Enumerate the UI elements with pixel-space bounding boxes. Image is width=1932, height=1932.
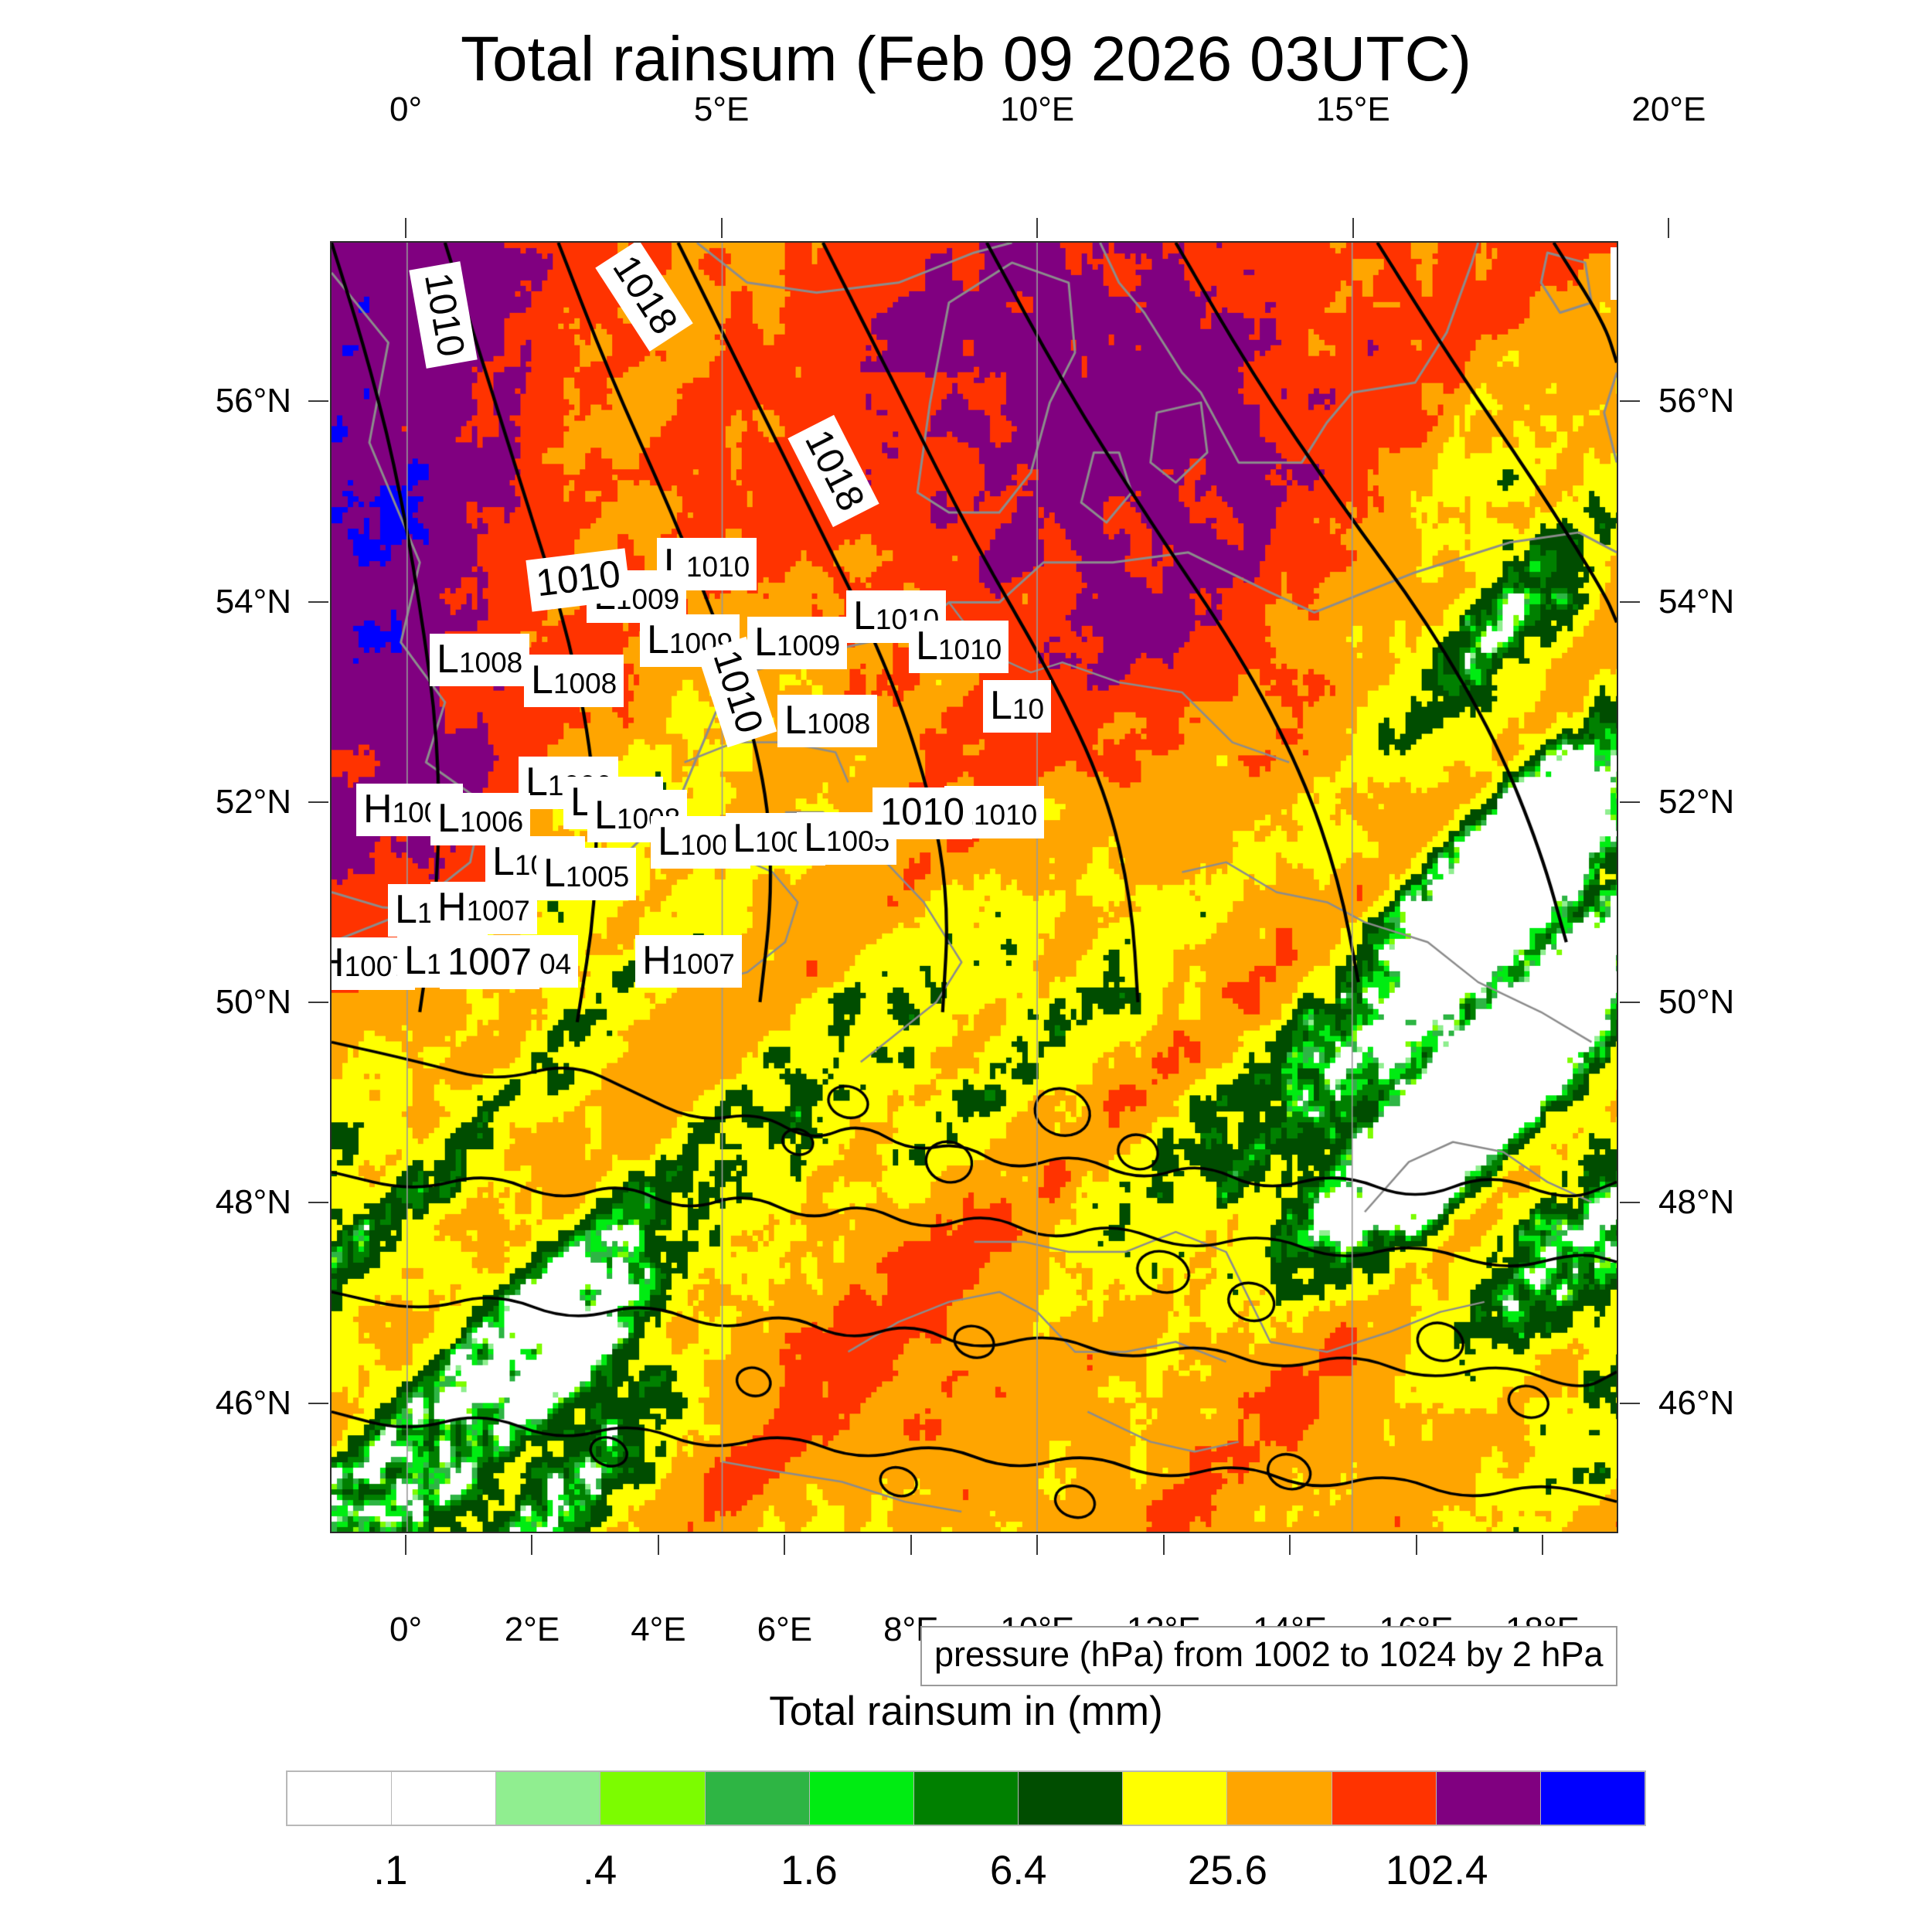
axis-label-bottom-2: 4°E [631,1611,685,1649]
pressure-marker-value: 1008 [553,669,617,698]
colorbar-cell-12[interactable] [1541,1772,1645,1825]
axis-tick-bottom-2 [658,1535,659,1555]
pressure-legend: pressure (hPa) from 1002 to 1024 by 2 hP… [920,1626,1617,1686]
colorbar-cell-8[interactable] [1123,1772,1227,1825]
pressure-marker-type: L [658,821,680,862]
axis-tick-right-4 [1620,1202,1640,1203]
axis-tick-bottom-3 [784,1535,785,1555]
colorbar-tick-1: .4 [583,1847,617,1894]
map-plot-area[interactable]: L1020H1022HL1010L1009L1009L1009L1010L101… [330,241,1618,1533]
colorbar-tick-3: 6.4 [990,1847,1047,1894]
pressure-marker-value: 1009 [777,631,840,660]
pressure-marker-type: L [647,620,669,660]
pressure-marker-value: 1007 [467,896,530,925]
axis-tick-bottom-4 [910,1535,912,1555]
pressure-marker-type: L [733,818,755,859]
axis-label-right-3: 50°N [1658,983,1852,1022]
axis-tick-top-3 [1352,218,1354,238]
axis-tick-top-4 [1668,218,1669,238]
colorbar-cell-4[interactable] [706,1772,810,1825]
axis-label-top-4: 20°E [1631,90,1706,129]
axis-label-top-3: 15°E [1316,90,1390,129]
axis-tick-bottom-5 [1036,1535,1038,1555]
axis-label-top-0: 0° [389,90,422,129]
colorbar-tick-0: .1 [373,1847,407,1894]
axis-label-left-1: 54°N [98,583,291,621]
pressure-marker-l-6: L1009 [747,617,847,669]
pressure-marker-l-10: L1008 [524,655,624,707]
pressure-marker-l-8: L1010 [909,621,1009,673]
axis-tick-right-5 [1620,1403,1640,1404]
pressure-marker-type: L [853,596,876,636]
colorbar-title: Total rainsum in (mm) [0,1688,1932,1735]
pressure-marker-type: L [492,842,515,882]
pressure-marker-type: H [363,789,393,829]
pressure-marker-value: 1005 [566,862,629,891]
axis-tick-left-0 [308,400,328,402]
pressure-marker-value: 1010 [974,801,1037,829]
axis-label-top-1: 5°E [694,90,749,129]
isobar-label-5: 1007 [440,937,539,989]
axis-tick-left-2 [308,801,328,803]
pressure-marker-type: L [916,626,938,666]
axis-tick-left-5 [308,1403,328,1404]
axis-tick-right-1 [1620,601,1640,603]
pressure-marker-type: L [754,622,777,662]
pressure-marker-type: L [437,639,459,679]
axis-label-left-5: 46°N [98,1384,291,1423]
axis-label-left-3: 50°N [98,983,291,1022]
pressure-marker-type: L [594,795,617,835]
axis-label-right-1: 54°N [1658,583,1852,621]
page-title: Total rainsum (Feb 09 2026 03UTC) [0,23,1932,96]
axis-tick-bottom-7 [1289,1535,1291,1555]
colorbar-cell-3[interactable] [600,1772,705,1825]
axis-tick-top-0 [405,218,406,238]
pressure-marker-h-25: H1007 [430,882,537,934]
axis-tick-bottom-0 [405,1535,406,1555]
axis-tick-top-1 [721,218,723,238]
colorbar[interactable] [286,1770,1646,1826]
pressure-marker-h-2: H [1611,247,1618,300]
pressure-marker-type: L [395,889,417,930]
pressure-marker-l-23: L1005 [536,848,636,900]
pressure-marker-type: L [531,660,553,700]
colorbar-cell-1[interactable] [392,1772,496,1825]
colorbar-cell-11[interactable] [1437,1772,1541,1825]
axis-tick-left-1 [308,601,328,603]
axis-tick-top-2 [1036,218,1038,238]
colorbar-cell-9[interactable] [1227,1772,1332,1825]
axis-label-top-2: 10°E [1000,90,1074,129]
pressure-marker-value: 1006 [460,808,523,836]
pressure-marker-type: L [543,853,566,893]
pressure-marker-l-12: L10 [983,680,1051,733]
isobar-label-6: 1010 [872,787,972,839]
colorbar-tick-4: 25.6 [1188,1847,1267,1894]
axis-tick-right-2 [1620,801,1640,803]
pressure-marker-h-29: H1007 [635,935,742,988]
axis-label-bottom-1: 2°E [505,1611,560,1649]
pressure-marker-value: 1008 [807,709,870,738]
pressure-marker-value: 10 [1012,695,1044,723]
pressure-marker-type: H [330,943,345,983]
axis-label-bottom-3: 6°E [757,1611,812,1649]
pressure-marker-value: 1010 [686,553,750,581]
axis-tick-right-3 [1620,1002,1640,1003]
pressure-marker-value: 1007 [672,950,735,978]
axis-label-bottom-0: 0° [389,1611,422,1649]
axis-label-left-4: 48°N [98,1183,291,1222]
pressure-marker-type: L [437,798,460,838]
axis-tick-bottom-6 [1163,1535,1165,1555]
colorbar-cell-2[interactable] [496,1772,600,1825]
pressure-marker-type: H [437,887,467,927]
pressure-marker-type: L [404,940,427,981]
pressure-marker-type: L [804,818,826,858]
pressure-marker-value: 1010 [938,635,1002,664]
pressure-marker-l-11: L1008 [777,695,877,747]
pressure-marker-type: L [784,700,807,740]
axis-tick-right-0 [1620,400,1640,402]
axis-tick-left-4 [308,1202,328,1203]
colorbar-cell-10[interactable] [1332,1772,1437,1825]
axis-tick-bottom-8 [1416,1535,1417,1555]
pressure-marker-value: 1008 [459,648,522,677]
pressure-marker-l-9: L1008 [430,634,529,686]
colorbar-tick-5: 102.4 [1386,1847,1488,1894]
colorbar-tick-2: 1.6 [781,1847,838,1894]
axis-label-left-2: 52°N [98,783,291,821]
axis-label-left-0: 56°N [98,382,291,420]
colorbar-cell-0[interactable] [287,1772,392,1825]
colorbar-cell-6[interactable] [914,1772,1019,1825]
axis-label-right-0: 56°N [1658,382,1852,420]
axis-tick-bottom-1 [531,1535,532,1555]
axis-label-right-4: 48°N [1658,1183,1852,1222]
pressure-marker-type: H [642,940,672,981]
axis-tick-bottom-9 [1542,1535,1543,1555]
axis-label-right-2: 52°N [1658,783,1852,821]
pressure-marker-type: L [990,685,1012,726]
colorbar-cell-5[interactable] [810,1772,914,1825]
pressure-marker-type: H [1617,253,1618,293]
colorbar-cell-7[interactable] [1019,1772,1123,1825]
axis-label-right-5: 46°N [1658,1384,1852,1423]
axis-tick-left-3 [308,1002,328,1003]
